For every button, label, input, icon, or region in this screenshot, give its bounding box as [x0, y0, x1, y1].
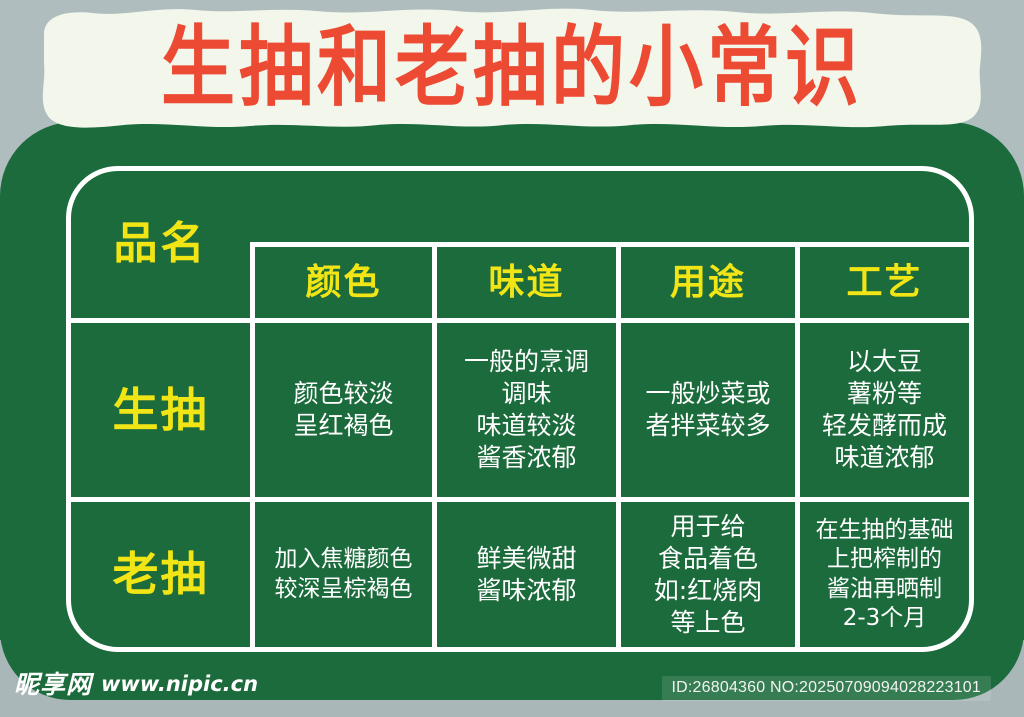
cell-laochou-process: 在生抽的基础 上把榨制的 酱油再晒制 2-3个月 [800, 502, 969, 647]
watermark: 昵享网 www.nipic.cn [14, 672, 258, 697]
row-label-laochou: 老抽 [77, 549, 244, 600]
cell-text: 一般的烹调 调味 味道较淡 酱香浓郁 [443, 346, 610, 474]
cell-shengchou-usage: 一般炒菜或 者拌菜较多 [621, 323, 795, 497]
poster-canvas: 生抽和老抽的小常识 品名 颜色 味道 用途 工艺 [0, 0, 1024, 717]
table-header-process-label: 工艺 [806, 263, 963, 303]
row-label-shengchou: 生抽 [77, 385, 244, 436]
table-header-color: 颜色 [255, 247, 432, 318]
cell-text: 鲜美微甜 酱味浓郁 [443, 543, 610, 607]
table-header-usage: 用途 [621, 247, 795, 318]
cell-text: 以大豆 薯粉等 轻发酵而成 味道浓郁 [806, 346, 963, 474]
title-text-wrap: 生抽和老抽的小常识 [36, 4, 988, 136]
cell-text: 加入焦糖颜色 较深呈棕褐色 [261, 545, 426, 604]
table-header-color-label: 颜色 [261, 263, 426, 303]
cell-text: 用于给 食品着色 如:红烧肉 等上色 [627, 511, 789, 639]
cell-text: 颜色较淡 呈红褐色 [261, 378, 426, 442]
table-header-name-label: 品名 [77, 220, 244, 268]
cell-laochou-color: 加入焦糖颜色 较深呈棕褐色 [255, 502, 432, 647]
table-header-usage-label: 用途 [627, 263, 789, 303]
table-header-name-cell: 品名 [71, 171, 250, 318]
table-header-process: 工艺 [800, 247, 969, 318]
table-header-taste-label: 味道 [443, 263, 610, 303]
cell-text: 一般炒菜或 者拌菜较多 [627, 378, 789, 442]
watermark-logo: 昵享网 [14, 672, 92, 697]
cell-shengchou-color: 颜色较淡 呈红褐色 [255, 323, 432, 497]
watermark-url: www.nipic.cn [101, 674, 258, 695]
cell-text: 在生抽的基础 上把榨制的 酱油再晒制 2-3个月 [806, 516, 963, 634]
table-row: 老抽 [71, 502, 250, 647]
cell-shengchou-taste: 一般的烹调 调味 味道较淡 酱香浓郁 [437, 323, 616, 497]
table-header-taste: 味道 [437, 247, 616, 318]
title-banner: 生抽和老抽的小常识 [36, 4, 988, 136]
cell-shengchou-process: 以大豆 薯粉等 轻发酵而成 味道浓郁 [800, 323, 969, 497]
table-row: 生抽 [71, 323, 250, 497]
cell-laochou-taste: 鲜美微甜 酱味浓郁 [437, 502, 616, 647]
image-id-badge: ID:26804360 NO:20250709094028223101 [662, 676, 992, 701]
image-id-text: ID:26804360 NO:20250709094028223101 [672, 679, 982, 696]
page-title: 生抽和老抽的小常识 [161, 24, 863, 111]
comparison-table: 品名 颜色 味道 用途 工艺 生抽 颜色较淡 呈红褐色 一般的烹调 调味 味道较… [66, 166, 974, 652]
cell-laochou-usage: 用于给 食品着色 如:红烧肉 等上色 [621, 502, 795, 647]
